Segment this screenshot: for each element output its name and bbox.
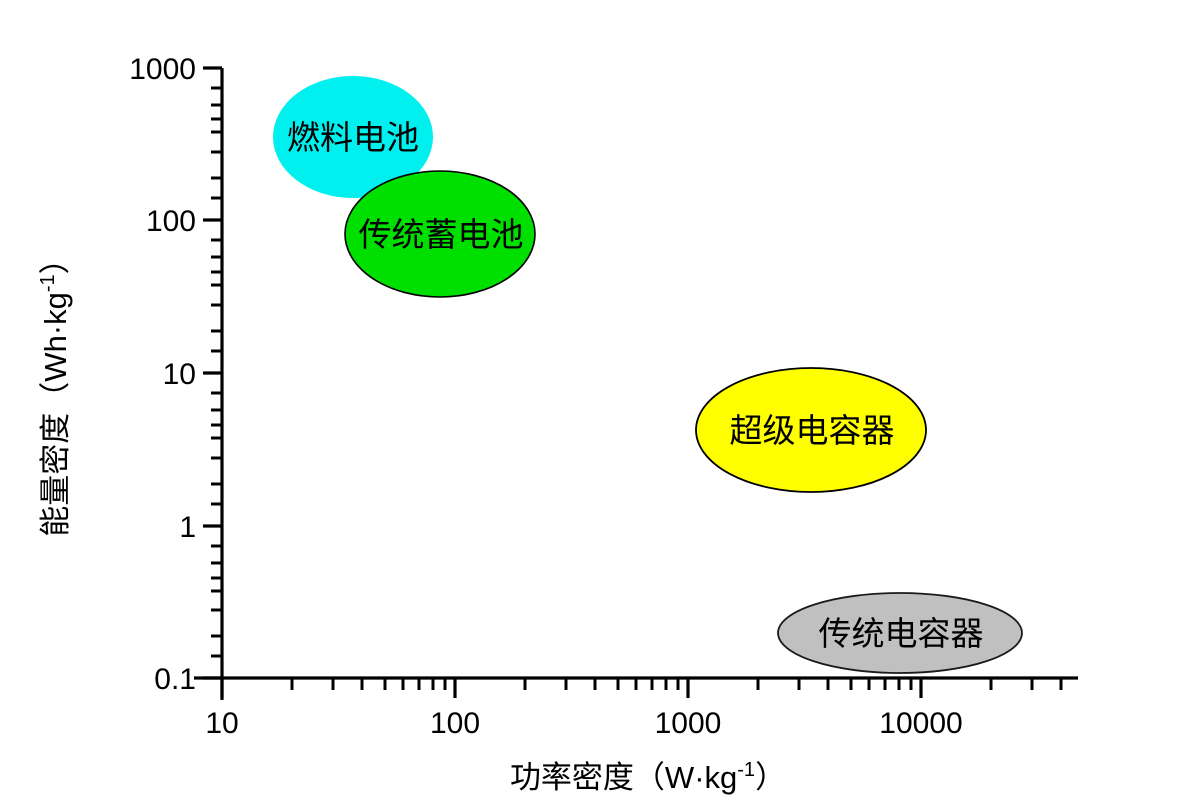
x-tick-label-100: 100	[430, 707, 480, 740]
y-axis-title: 能量密度（Wh·kg-1）	[37, 243, 73, 536]
region-conventional-capacitor[interactable]: 传统电容器	[778, 593, 1022, 673]
y-axis-title-base: 能量密度（Wh·kg	[38, 292, 73, 537]
y-tick-label-100: 100	[146, 205, 196, 238]
x-axis-title-tail: ）	[755, 760, 786, 795]
y-tick-label-1: 1	[179, 511, 196, 544]
x-axis-title-base: 功率密度（W·kg	[510, 760, 737, 795]
x-axis-title-exponent: -1	[737, 759, 755, 781]
region-supercapacitor[interactable]: 超级电容器	[696, 368, 926, 492]
x-tick-label-10000: 10000	[879, 707, 962, 740]
energy-power-density-ragone-plot: 燃料电池 传统蓄电池 超级电容器 传统电容器	[0, 0, 1204, 805]
y-axis-title-tail: ）	[38, 243, 73, 274]
y-axis-title-exponent: -1	[37, 274, 59, 292]
x-axis-ticks	[222, 678, 1061, 698]
svg-text:能量密度（Wh·kg-1）: 能量密度（Wh·kg-1）	[37, 243, 73, 536]
y-tick-labels: 1000 100 10 1 0.1	[129, 53, 196, 696]
region-fuel-cell-label: 燃料电池	[287, 120, 419, 157]
y-axis-ticks	[203, 68, 222, 678]
svg-text:功率密度（W·kg-1）: 功率密度（W·kg-1）	[510, 759, 786, 795]
region-conventional-battery[interactable]: 传统蓄电池	[345, 171, 535, 297]
x-tick-label-10: 10	[205, 707, 238, 740]
x-tick-labels: 10 100 1000 10000	[205, 707, 962, 740]
x-tick-label-1000: 1000	[655, 707, 722, 740]
region-supercapacitor-label: 超级电容器	[730, 413, 895, 450]
chart-canvas: 燃料电池 传统蓄电池 超级电容器 传统电容器	[0, 0, 1204, 805]
region-conventional-capacitor-label: 传统电容器	[819, 616, 984, 653]
y-tick-label-0.1: 0.1	[154, 663, 196, 696]
region-bubbles: 燃料电池 传统蓄电池 超级电容器 传统电容器	[273, 76, 1022, 673]
y-tick-label-10: 10	[163, 358, 196, 391]
region-conventional-battery-label: 传统蓄电池	[359, 217, 524, 254]
x-axis-title: 功率密度（W·kg-1）	[510, 759, 786, 795]
y-tick-label-1000: 1000	[129, 53, 196, 86]
